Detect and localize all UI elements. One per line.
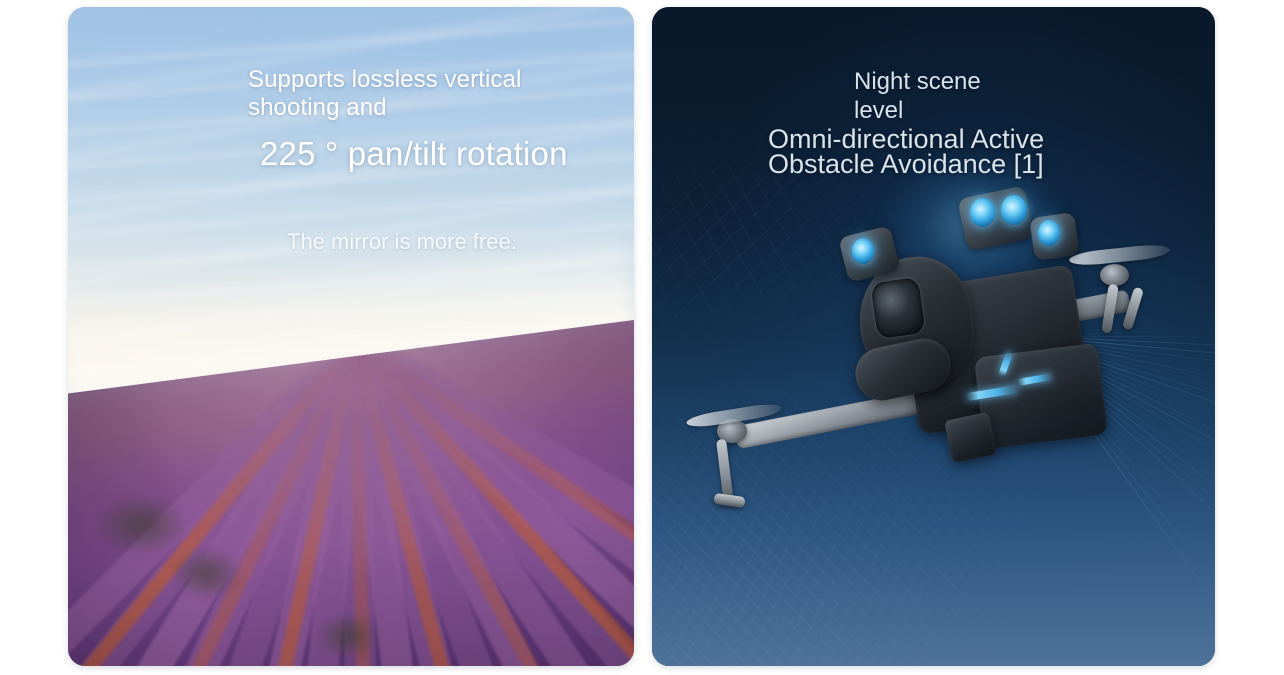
card-line-1-text: Night scene — [854, 67, 981, 96]
drone-card-text: Night scene level Omni-directional Activ… — [652, 7, 1215, 666]
pan-tilt-rotation-card[interactable]: Supports lossless vertical shooting and … — [68, 7, 634, 666]
card-eyebrow-text: Supports lossless vertical shooting and — [248, 66, 578, 122]
lavender-card-text: Supports lossless vertical shooting and … — [68, 7, 634, 666]
card-headline-text: 225 ° pan/tilt rotation — [260, 135, 568, 173]
obstacle-avoidance-card[interactable]: Night scene level Omni-directional Activ… — [652, 7, 1215, 666]
card-line-2-text: level — [854, 96, 903, 125]
card-subline-text: The mirror is more free. — [287, 229, 517, 255]
page-root: Supports lossless vertical shooting and … — [0, 0, 1284, 675]
card-line-4-text: Obstacle Avoidance [1] — [768, 149, 1044, 180]
